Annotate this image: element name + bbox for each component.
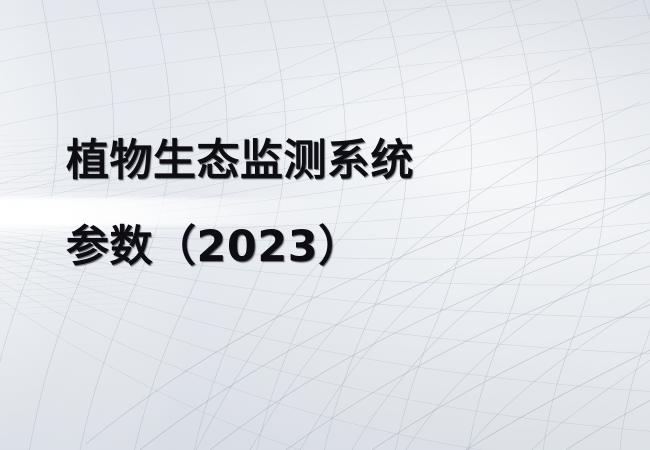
slide-canvas: 植物生态监测系统 参数（2023） [0,0,650,450]
title-line-2: 参数（2023） [66,204,586,290]
slide-title: 植物生态监测系统 参数（2023） [66,118,586,290]
title-line-1: 植物生态监测系统 [66,118,586,204]
